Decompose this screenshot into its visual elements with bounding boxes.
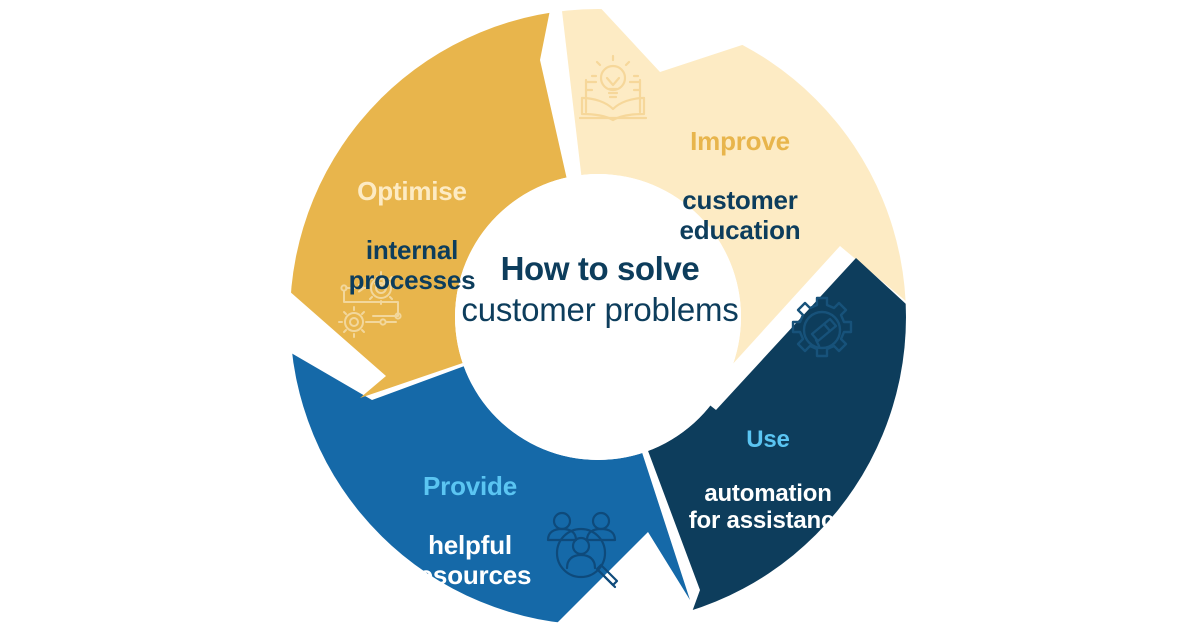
center-title-line1: How to solve <box>460 249 740 290</box>
segment-label-resources: Provide helpful resources <box>378 443 562 619</box>
center-title: How to solve customer problems <box>460 249 740 330</box>
segment-rest-education: customer education <box>640 186 840 245</box>
segment-accent-processes: Optimise <box>320 177 504 206</box>
segment-label-automation: Use automation for assistance <box>660 399 876 562</box>
infographic-canvas: Improve customer education Use automatio… <box>0 0 1200 630</box>
segment-label-education: Improve customer education <box>640 98 840 274</box>
segment-rest-resources: helpful resources <box>378 531 562 590</box>
segment-rest-automation: automation for assistance <box>660 480 876 534</box>
segment-accent-education: Improve <box>640 127 840 156</box>
segment-accent-resources: Provide <box>378 472 562 501</box>
center-title-line2: customer problems <box>460 290 740 331</box>
segment-accent-automation: Use <box>660 426 876 453</box>
